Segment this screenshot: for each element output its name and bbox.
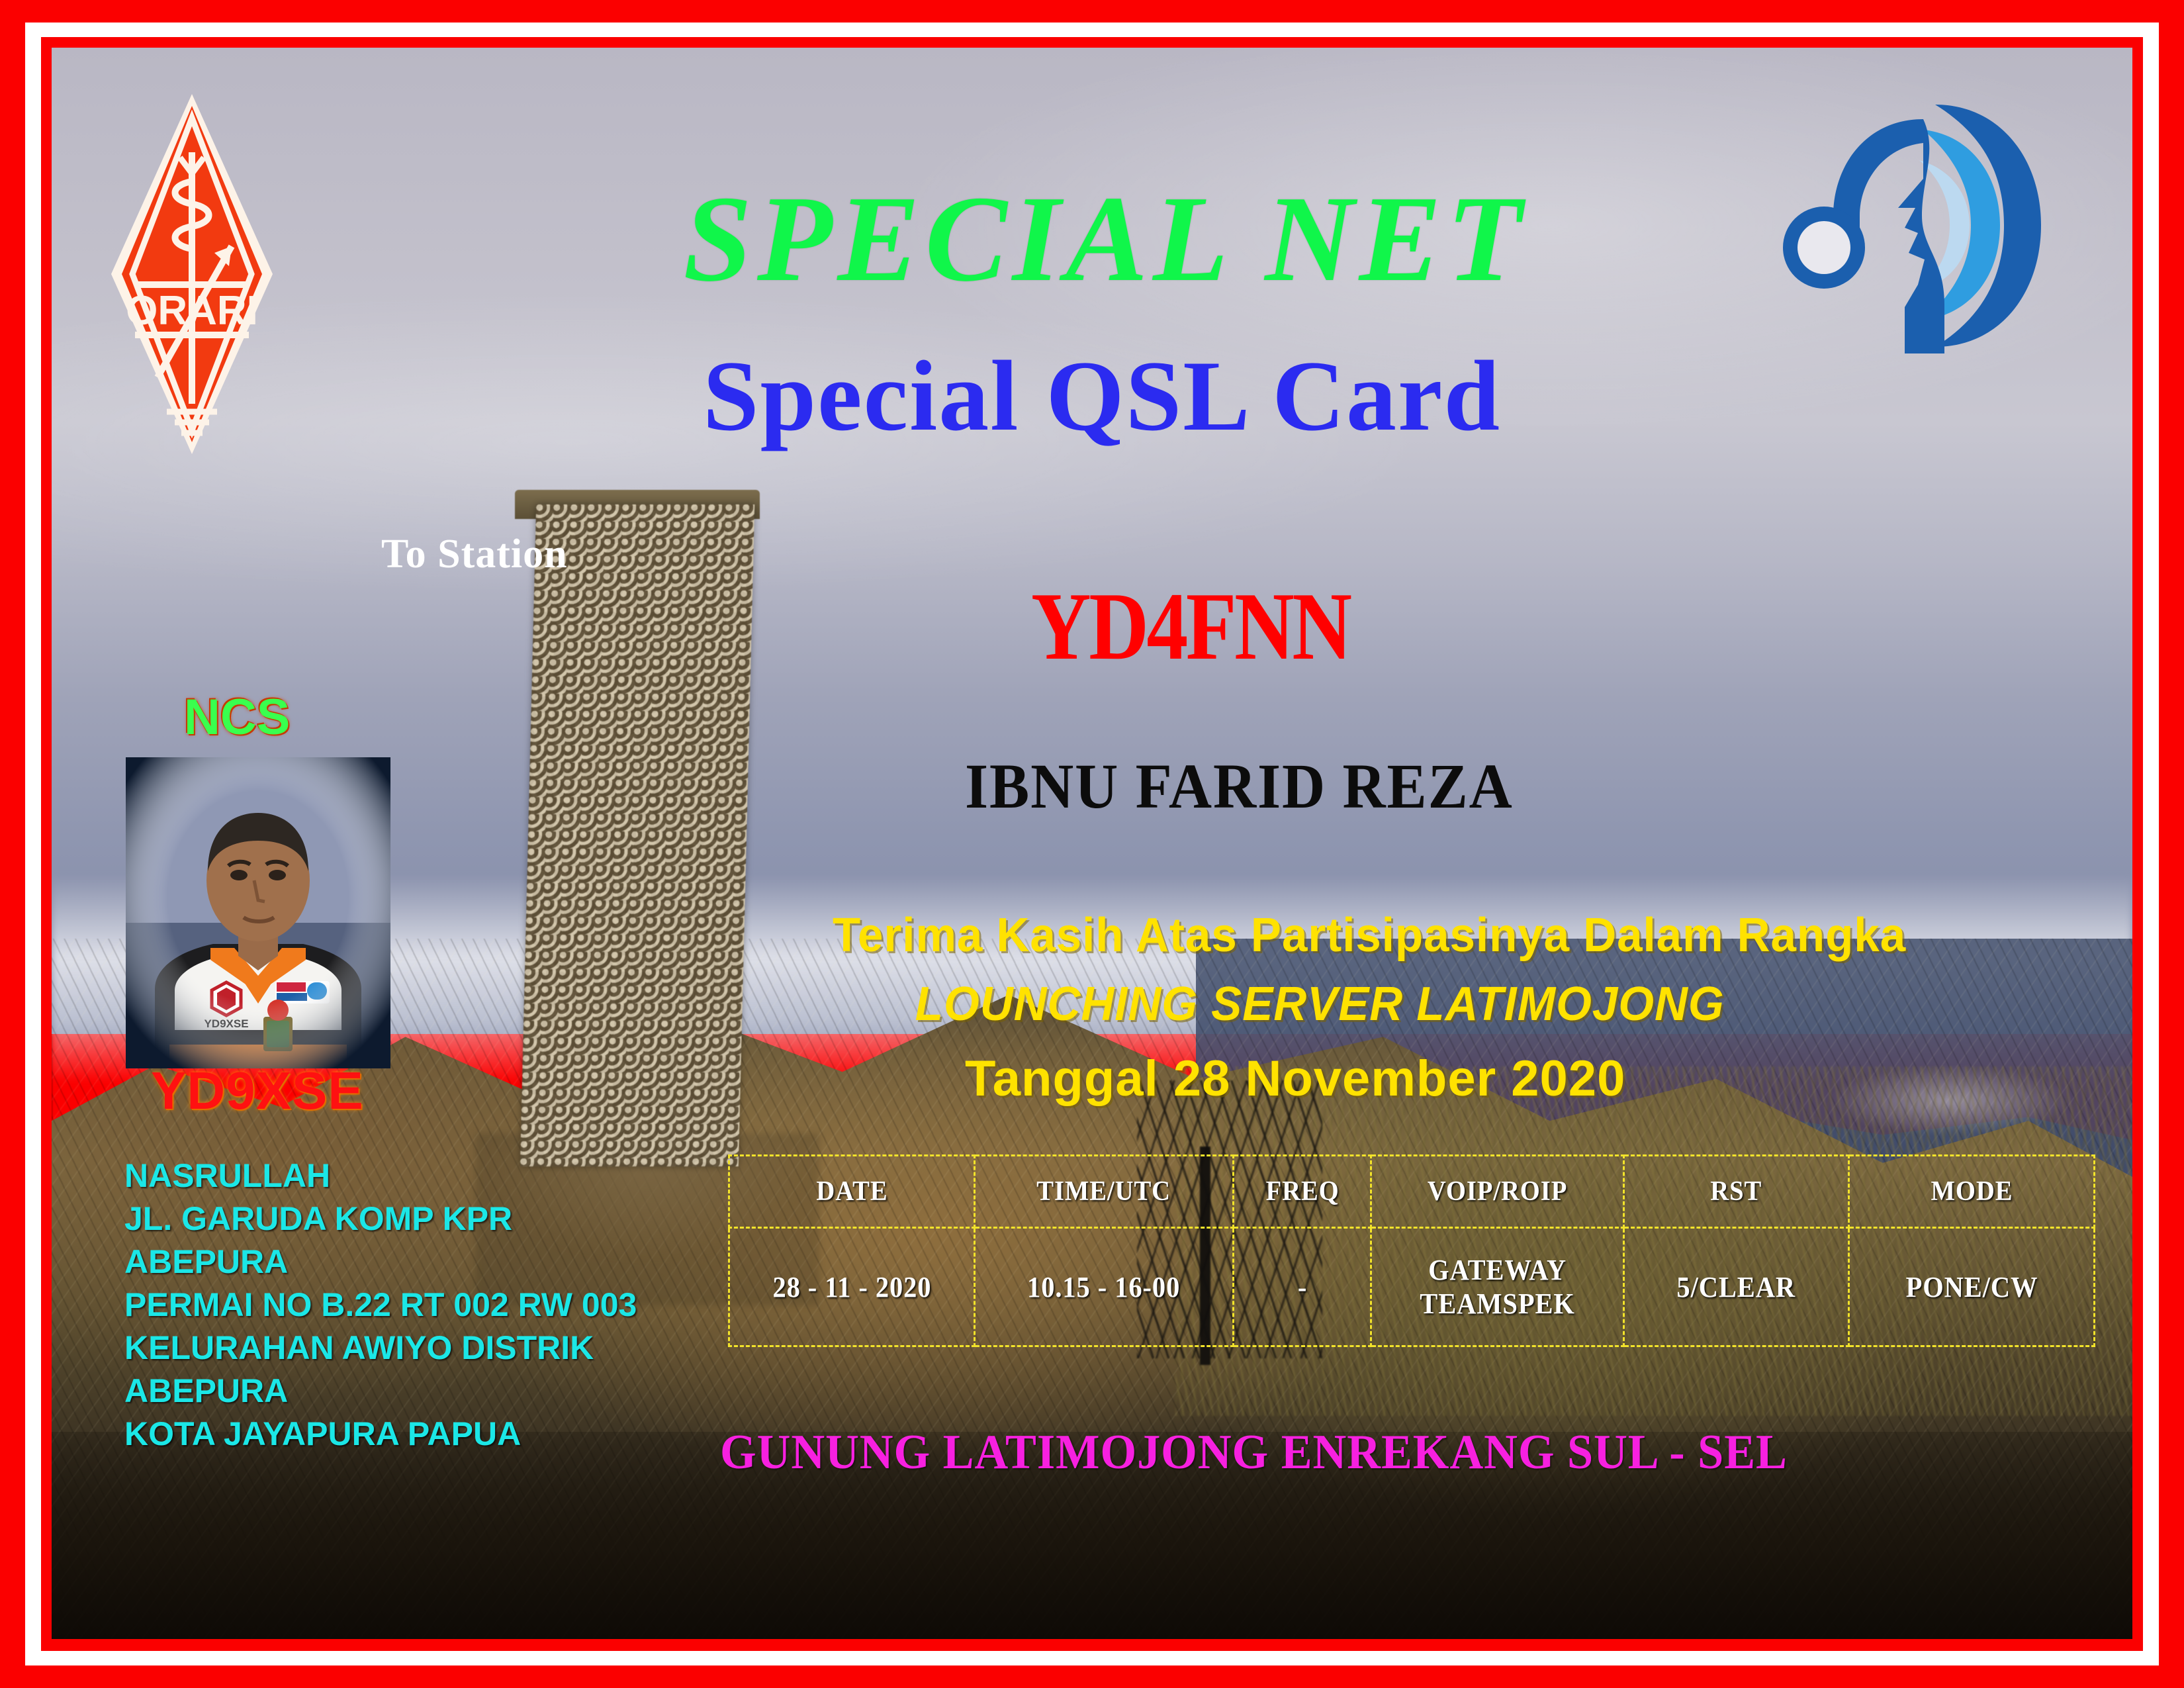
address-block: NASRULLAH JL. GARUDA KOMP KPR ABEPURA PE… (124, 1154, 637, 1456)
cell-mode: PONE/CW (1858, 1228, 2084, 1346)
card-photo-area: ORARI SPECIAL NET Special QSL Card To St… (52, 48, 2132, 1639)
page-title-special-net: SPECIAL NET (52, 177, 2132, 301)
ncs-label: NCS (184, 688, 290, 746)
thanks-line-2: LOUNCHING SERVER LATIMOJONG (833, 977, 2103, 1031)
location-text: GUNUNG LATIMOJONG ENREKANG SUL - SEL (720, 1425, 1788, 1481)
ncs-callsign: YD9XSE (151, 1060, 364, 1121)
footer-web-address[interactable]: Address : amatir.latimojong.com (1316, 1632, 1950, 1639)
address-line: ABEPURA (124, 1241, 637, 1284)
column-header-mode: MODE (1858, 1156, 2084, 1228)
thanks-line-3: Tanggal 28 November 2020 (833, 1050, 2132, 1107)
cell-time-utc: 10.15 - 16-00 (985, 1228, 1223, 1346)
address-line: PERMAI NO B.22 RT 002 RW 003 (124, 1284, 637, 1327)
station-callsign: YD4FNN (1031, 571, 1350, 682)
address-line: ABEPURA (124, 1370, 637, 1413)
column-header-rst: RST (1633, 1156, 1840, 1228)
to-station-label: To Station (381, 531, 568, 578)
column-header-freq: FREQ (1239, 1156, 1366, 1228)
stone-monument-pillar (520, 504, 754, 1166)
qso-table: DATE TIME/UTC FREQ VOIP/ROIP RST MODE 28… (728, 1154, 2095, 1338)
qsl-card: ORARI SPECIAL NET Special QSL Card To St… (0, 0, 2184, 1688)
cell-voip-roip-line2: TEAMSPEK (1383, 1287, 1612, 1321)
operator-photo: YD9XSE (126, 757, 390, 1068)
thanks-block: Terima Kasih Atas Partisipasinya Dalam R… (833, 908, 2132, 1107)
column-header-time-utc: TIME/UTC (985, 1156, 1223, 1228)
cell-voip-roip: GATEWAY TEAMSPEK (1381, 1228, 1614, 1346)
operator-name: IBNU FARID REZA (965, 749, 1514, 823)
address-line: KOTA JAYAPURA PAPUA (124, 1413, 637, 1456)
page-subtitle-special-qsl-card: Special QSL Card (52, 346, 2132, 446)
address-line: JL. GARUDA KOMP KPR (124, 1197, 637, 1241)
operator-portrait-icon: YD9XSE (126, 757, 390, 1068)
table-row: 28 - 11 - 2020 10.15 - 16-00 - GATEWAY T… (729, 1228, 2095, 1346)
address-line: NASRULLAH (124, 1154, 637, 1197)
address-line: KELURAHAN AWIYO DISTRIK (124, 1327, 637, 1370)
cell-rst: 5/CLEAR (1633, 1228, 1840, 1346)
cell-date: 28 - 11 - 2020 (739, 1228, 964, 1346)
column-header-date: DATE (739, 1156, 964, 1228)
table-header-row: DATE TIME/UTC FREQ VOIP/ROIP RST MODE (729, 1156, 2095, 1228)
cell-freq: - (1239, 1228, 1366, 1346)
footer-motto: "AMATIR RADIO ADALAH PROGRESIVE" (131, 1634, 1016, 1639)
column-header-voip-roip: VOIP/ROIP (1381, 1156, 1614, 1228)
cell-voip-roip-line1: GATEWAY (1383, 1253, 1612, 1287)
thanks-line-1: Terima Kasih Atas Partisipasinya Dalam R… (833, 908, 2103, 962)
